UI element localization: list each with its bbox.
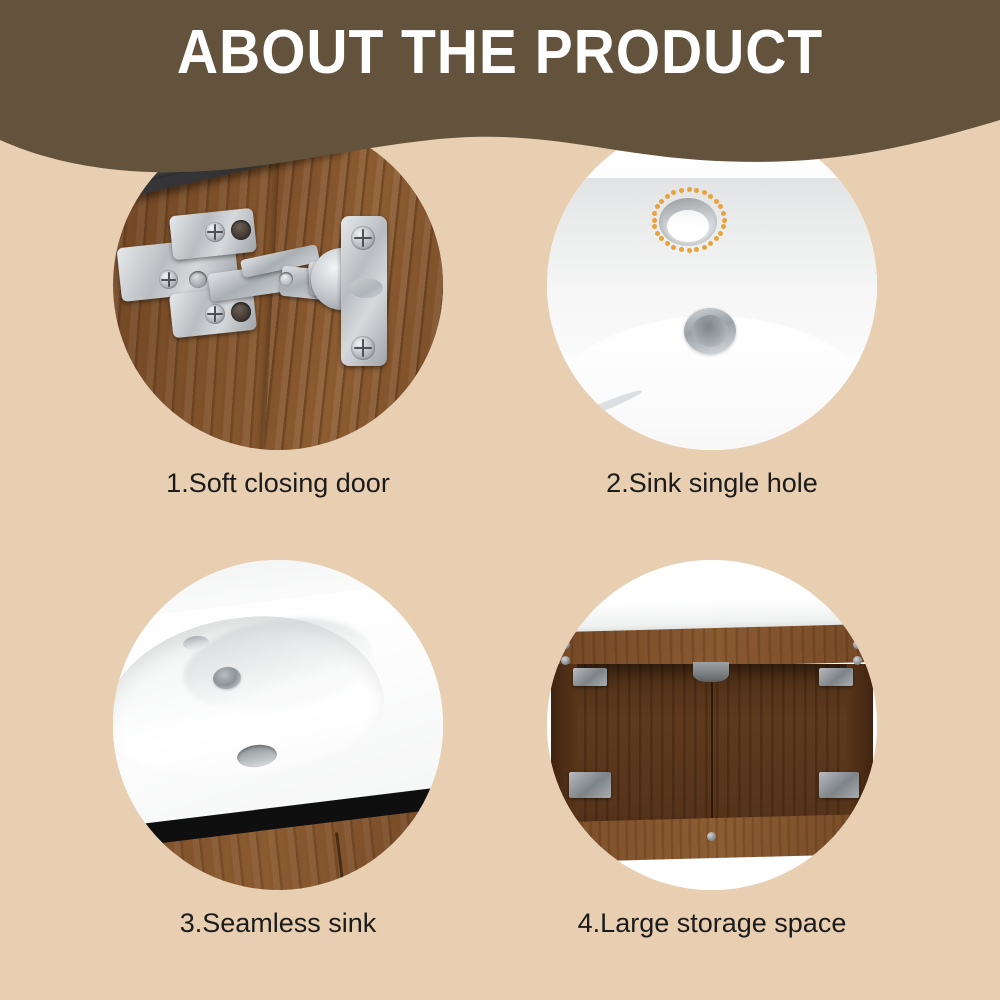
feature-caption-3: 3.Seamless sink [53, 908, 503, 939]
highlight-dot [659, 199, 664, 204]
highlight-dot [652, 224, 657, 229]
assembly-screw-2 [561, 656, 570, 665]
cup-plate-screw-bottom [351, 336, 375, 360]
highlight-dot [652, 211, 657, 216]
highlight-dot [694, 188, 699, 193]
highlight-dot [679, 247, 684, 252]
highlight-dot [722, 218, 727, 223]
assembly-screw-4 [853, 656, 862, 665]
feature-tile-3: 3.Seamless sink [113, 560, 443, 890]
hinge-screw-upper [205, 222, 225, 242]
overflow-drain-hole [692, 315, 728, 347]
assembly-screw-3 [853, 640, 862, 649]
highlight-dot [671, 190, 676, 195]
highlight-dot [702, 190, 707, 195]
feature-caption-4: 4.Large storage space [487, 908, 937, 939]
highlight-dot [652, 218, 657, 223]
hinge-screw-lower [205, 304, 225, 324]
cabinet-hinge-top-left [573, 668, 607, 686]
cabinet-side-wall-left [551, 664, 577, 824]
feature-tile-2: 2.Sink single hole [547, 120, 877, 450]
hinge-hex-nut [189, 271, 207, 288]
highlight-dot [665, 241, 670, 246]
soft-close-hinge-photo [113, 120, 443, 450]
highlight-dot [671, 245, 676, 250]
highlight-dot [718, 204, 723, 209]
seamless-sink-photo [113, 560, 443, 890]
highlight-dot [655, 231, 660, 236]
highlight-dot [708, 241, 713, 246]
cup-plate-screw-top [351, 226, 375, 250]
highlight-dot [714, 199, 719, 204]
cabinet-hinge-top-right [819, 668, 853, 686]
cabinet-side-wall-right [847, 664, 873, 824]
overflow-drain-ring [684, 308, 736, 354]
highlight-dot [694, 247, 699, 252]
highlight-dot [687, 187, 692, 192]
large-storage-space-photo [547, 560, 877, 890]
highlight-dot [714, 236, 719, 241]
highlight-dot [708, 194, 713, 199]
hinge-hole-upper [231, 220, 251, 240]
feature-caption-2: 2.Sink single hole [487, 468, 937, 499]
cabinet-hinge-bottom-left [569, 772, 611, 798]
product-infographic: ABOUT THE PRODUCT [0, 0, 1000, 1000]
highlight-dot [687, 248, 692, 253]
cabinet-hinge-bottom-right [819, 772, 859, 798]
assembly-screw-6 [579, 832, 588, 841]
hinge-hole-lower [231, 302, 251, 322]
hinge-adjust-screw [159, 270, 178, 289]
highlight-dot [718, 231, 723, 236]
cabinet-back-panel-seam [711, 670, 713, 818]
drain-pipe-stub [693, 662, 729, 682]
feature-caption-1: 1.Soft closing door [53, 468, 503, 499]
assembly-screw-7 [707, 832, 716, 841]
feature-tile-1: 1.Soft closing door [113, 120, 443, 450]
page-title: ABOUT THE PRODUCT [40, 20, 960, 86]
hinge-brand-emboss [349, 278, 383, 298]
assembly-screw-1 [561, 640, 570, 649]
highlight-dot [679, 188, 684, 193]
assembly-screw-8 [839, 828, 848, 837]
assembly-screw-5 [561, 824, 570, 833]
highlight-dot [655, 204, 660, 209]
highlight-dot [665, 194, 670, 199]
highlight-dot [659, 236, 664, 241]
assembly-screw-9 [855, 822, 864, 831]
highlight-dot [721, 224, 726, 229]
highlight-dot [702, 245, 707, 250]
highlight-dotted-circle [651, 182, 727, 258]
hinge-pivot-pin [279, 272, 293, 286]
sink-single-hole-photo [547, 120, 877, 450]
feature-tile-4: 4.Large storage space [547, 560, 877, 890]
highlight-dot [721, 211, 726, 216]
